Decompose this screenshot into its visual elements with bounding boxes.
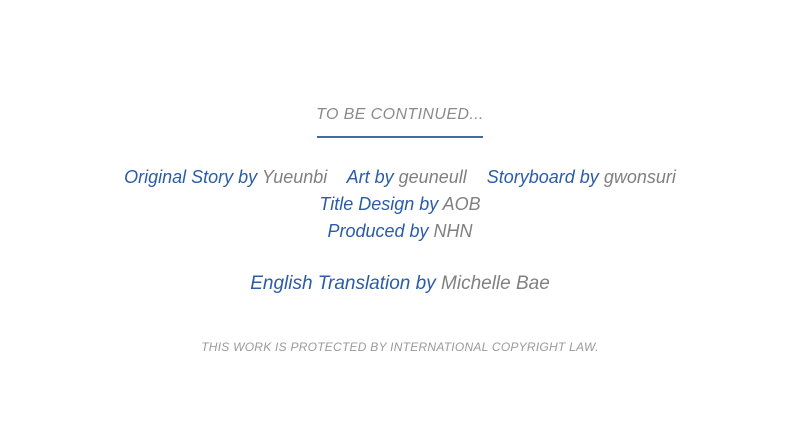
credit-role-storyboard: Storyboard by bbox=[487, 167, 599, 187]
credit-role-title-design: Title Design by bbox=[319, 194, 438, 214]
credit-name-art: geuneull bbox=[399, 167, 467, 187]
to-be-continued-text: TO BE CONTINUED... bbox=[316, 106, 484, 124]
credit-name-produced: NHN bbox=[434, 221, 473, 241]
credit-name-storyboard: gwonsuri bbox=[604, 167, 676, 187]
credit-role-art: Art by bbox=[347, 167, 394, 187]
end-card: TO BE CONTINUED... Original Story by Yue… bbox=[0, 0, 800, 426]
credit-role-produced: Produced by bbox=[327, 221, 428, 241]
credit-role-original-story: Original Story by bbox=[124, 167, 257, 187]
credit-line-translation: English Translation by Michelle Bae bbox=[250, 270, 550, 298]
divider-rule bbox=[317, 136, 483, 138]
credit-line-produced: Produced by NHN bbox=[327, 218, 472, 245]
credit-line-title-design: Title Design by AOB bbox=[319, 191, 480, 218]
credit-line-primary: Original Story by Yueunbi Art by geuneul… bbox=[124, 164, 676, 191]
credit-name-translation: Michelle Bae bbox=[441, 273, 550, 294]
credit-name-original-story: Yueunbi bbox=[262, 167, 327, 187]
credit-name-title-design: AOB bbox=[443, 194, 481, 214]
credit-role-translation: English Translation by bbox=[250, 273, 436, 294]
copyright-notice: THIS WORK IS PROTECTED BY INTERNATIONAL … bbox=[201, 340, 599, 354]
credits-block: Original Story by Yueunbi Art by geuneul… bbox=[124, 164, 676, 298]
to-be-continued-block: TO BE CONTINUED... bbox=[316, 106, 484, 138]
